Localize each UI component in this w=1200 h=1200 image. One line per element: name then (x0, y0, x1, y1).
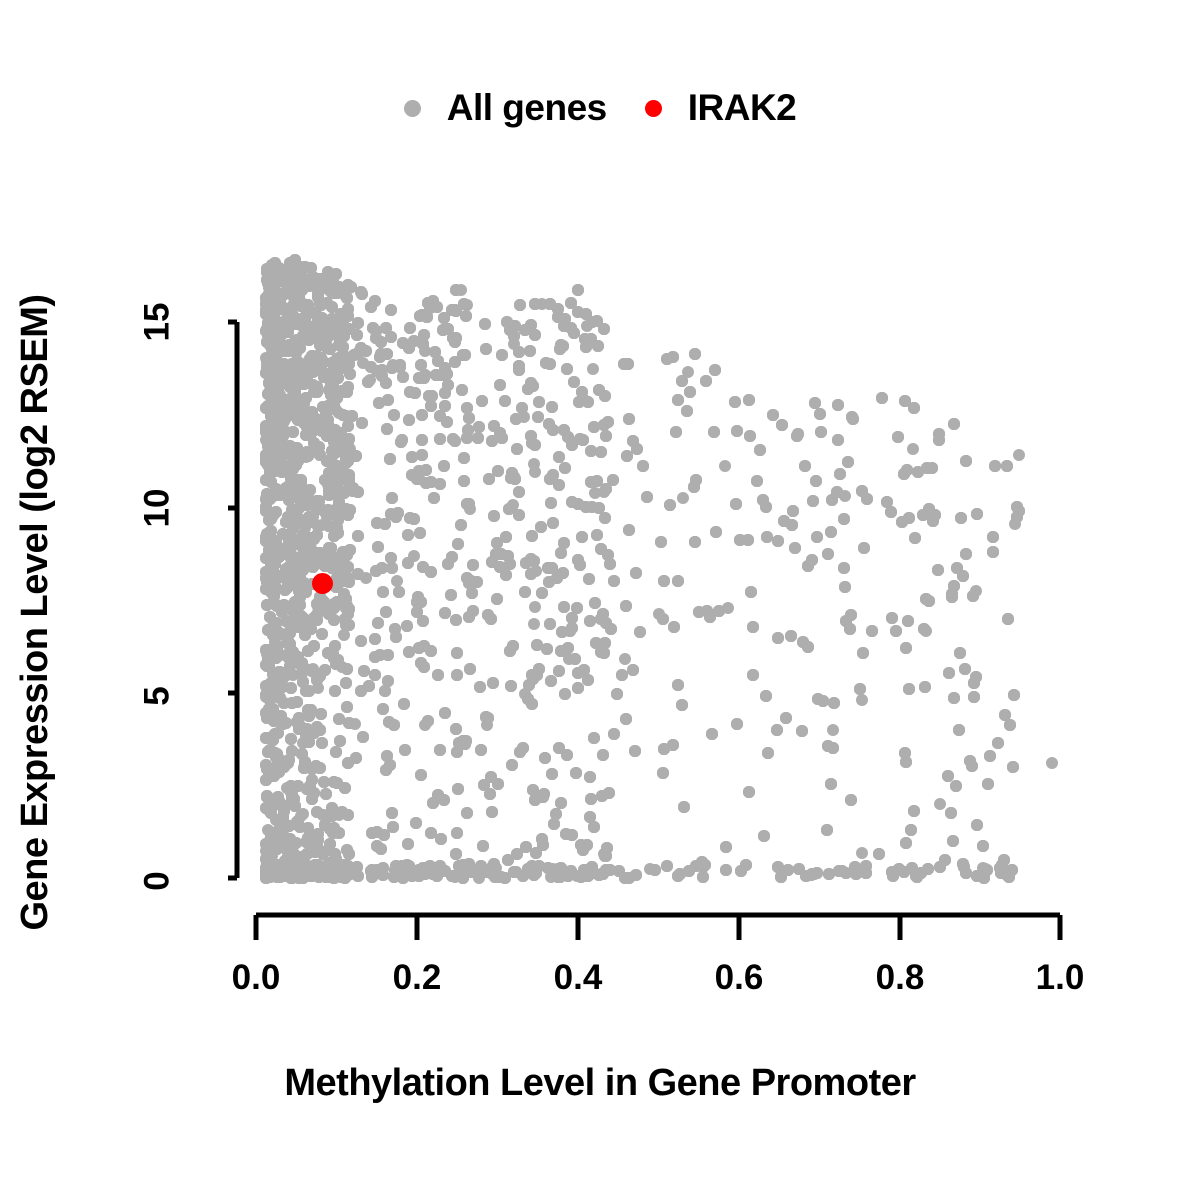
scatter-plot-figure: All genes IRAK2 Gene Expression Level (l… (0, 0, 1200, 1200)
